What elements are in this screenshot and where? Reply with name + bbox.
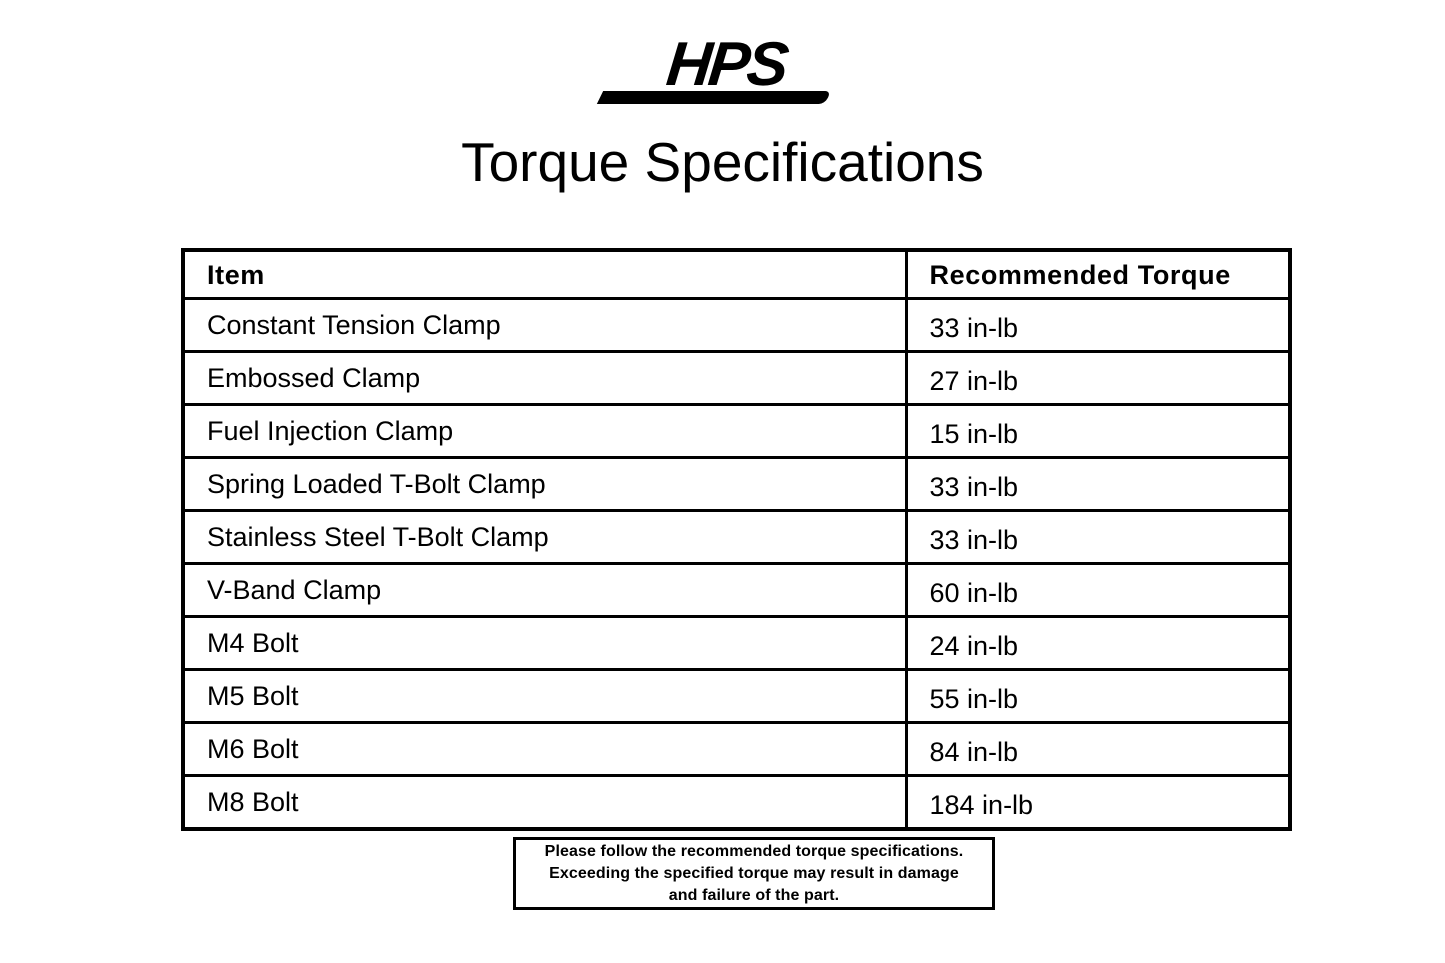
note-line: and failure of the part.: [669, 885, 839, 907]
table-body: Constant Tension Clamp33 in-lbEmbossed C…: [183, 299, 1290, 830]
cell-recommended-torque: 33 in-lb: [906, 458, 1290, 511]
torque-specifications-page: { "brand": { "logo_text": "HPS", "logo_n…: [0, 0, 1445, 963]
cell-item: Stainless Steel T-Bolt Clamp: [183, 511, 906, 564]
torque-specifications-table: Item Recommended Torque Constant Tension…: [181, 248, 1292, 831]
table-row: M6 Bolt84 in-lb: [183, 723, 1290, 776]
cell-item: Embossed Clamp: [183, 352, 906, 405]
hps-logo: HPS: [598, 34, 848, 112]
cell-recommended-torque: 184 in-lb: [906, 776, 1290, 830]
logo-container: HPS: [0, 34, 1445, 114]
cell-recommended-torque: 55 in-lb: [906, 670, 1290, 723]
table-header: Item Recommended Torque: [183, 250, 1290, 299]
cell-item: M5 Bolt: [183, 670, 906, 723]
column-header-recommended-torque: Recommended Torque: [906, 250, 1290, 299]
cell-recommended-torque: 24 in-lb: [906, 617, 1290, 670]
cell-recommended-torque: 33 in-lb: [906, 299, 1290, 352]
cell-recommended-torque: 60 in-lb: [906, 564, 1290, 617]
table-row: M5 Bolt55 in-lb: [183, 670, 1290, 723]
table-row: Embossed Clamp27 in-lb: [183, 352, 1290, 405]
hps-logo-underline-bar: [596, 91, 830, 104]
cell-recommended-torque: 27 in-lb: [906, 352, 1290, 405]
cell-item: M4 Bolt: [183, 617, 906, 670]
note-line: Please follow the recommended torque spe…: [545, 841, 964, 863]
column-header-item: Item: [183, 250, 906, 299]
cell-item: V-Band Clamp: [183, 564, 906, 617]
hps-logo-wordmark: HPS: [598, 34, 855, 96]
warning-note-box: Please follow the recommended torque spe…: [513, 837, 995, 910]
table-row: Fuel Injection Clamp15 in-lb: [183, 405, 1290, 458]
note-line: Exceeding the specified torque may resul…: [549, 863, 959, 885]
cell-item: M6 Bolt: [183, 723, 906, 776]
table-row: M4 Bolt24 in-lb: [183, 617, 1290, 670]
cell-recommended-torque: 15 in-lb: [906, 405, 1290, 458]
cell-item: M8 Bolt: [183, 776, 906, 830]
table-row: Stainless Steel T-Bolt Clamp33 in-lb: [183, 511, 1290, 564]
cell-item: Fuel Injection Clamp: [183, 405, 906, 458]
table-row: V-Band Clamp60 in-lb: [183, 564, 1290, 617]
table-row: Constant Tension Clamp33 in-lb: [183, 299, 1290, 352]
cell-item: Spring Loaded T-Bolt Clamp: [183, 458, 906, 511]
table-row: Spring Loaded T-Bolt Clamp33 in-lb: [183, 458, 1290, 511]
table-row: M8 Bolt184 in-lb: [183, 776, 1290, 830]
cell-item: Constant Tension Clamp: [183, 299, 906, 352]
cell-recommended-torque: 33 in-lb: [906, 511, 1290, 564]
table-header-row: Item Recommended Torque: [183, 250, 1290, 299]
page-title: Torque Specifications: [0, 129, 1445, 195]
cell-recommended-torque: 84 in-lb: [906, 723, 1290, 776]
